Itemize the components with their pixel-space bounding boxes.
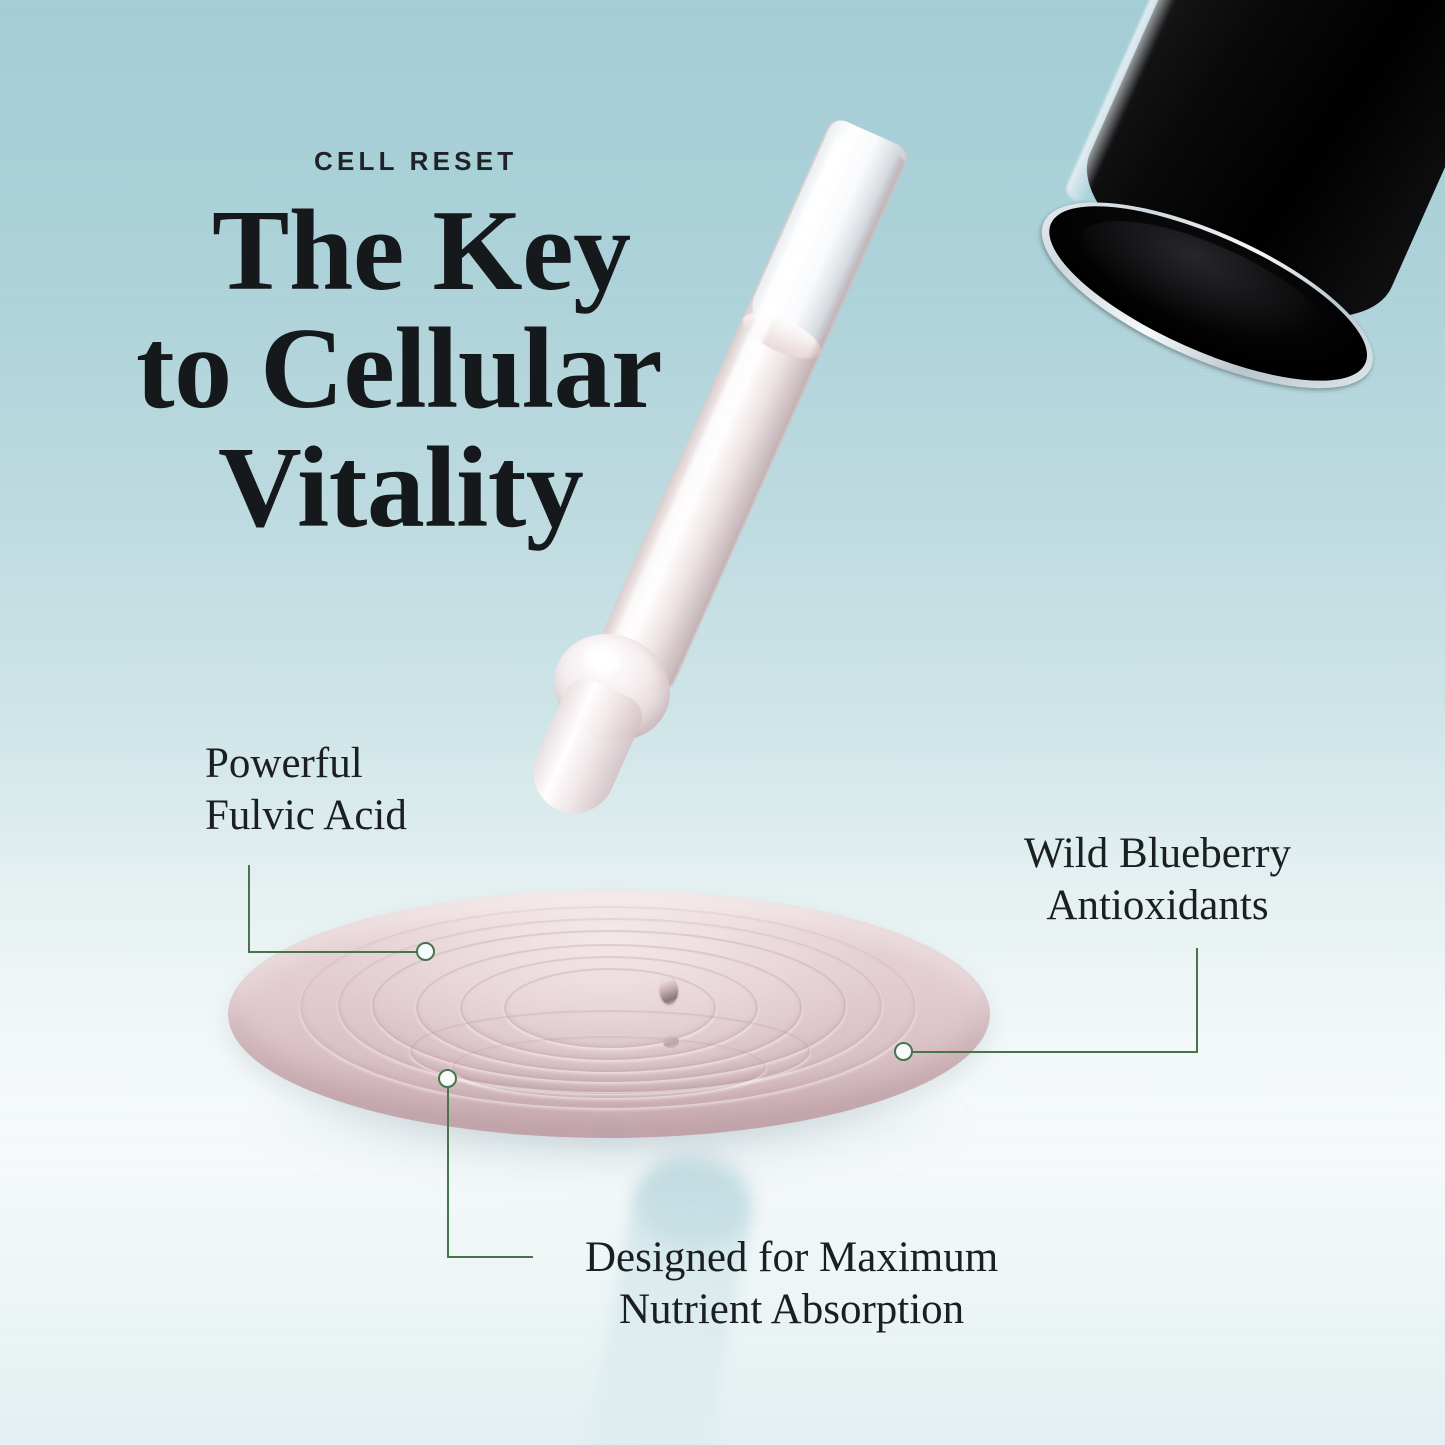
callout-absorption-line-2: Nutrient Absorption	[619, 1286, 964, 1333]
callout-blueberry-line-2: Antioxidants	[1046, 882, 1268, 929]
headline-line-3: Vitality	[218, 429, 770, 547]
callout-fulvic-line-2: Fulvic Acid	[205, 792, 407, 839]
leader-dot-blueberry	[894, 1042, 913, 1061]
callout-label-blueberry: Wild Blueberry Antioxidants	[1024, 828, 1291, 933]
page-title: The Key to Cellular Vitality	[130, 192, 770, 547]
serum-puddle	[228, 890, 990, 1138]
callout-absorption-line-1: Designed for Maximum	[585, 1234, 998, 1281]
callout-fulvic-line-1: Powerful	[205, 740, 363, 787]
leader-dot-fulvic	[416, 942, 435, 961]
brand-eyebrow: CELL RESET	[314, 146, 517, 177]
headline-line-1: The Key	[212, 192, 770, 310]
callout-label-absorption: Designed for Maximum Nutrient Absorption	[585, 1232, 998, 1337]
product-feature-image: CELL RESET The Key to Cellular Vitality …	[0, 0, 1445, 1445]
leader-dot-absorption	[438, 1069, 457, 1088]
callout-label-fulvic-acid: Powerful Fulvic Acid	[205, 738, 407, 843]
headline-line-2: to Cellular	[136, 310, 770, 428]
serum-droplet-bead-secondary	[663, 1036, 679, 1048]
serum-droplet-bead	[660, 978, 678, 1004]
callout-blueberry-line-1: Wild Blueberry	[1024, 830, 1291, 877]
